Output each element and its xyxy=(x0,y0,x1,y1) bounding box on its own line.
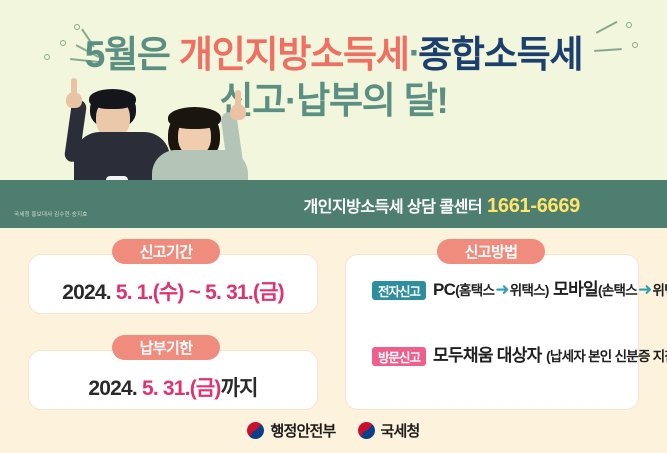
pc-channel-close: 위택스) xyxy=(510,283,549,298)
filing-period-range: 5. 1.(수) ~ 5. 31.(금) xyxy=(116,281,284,304)
filing-period-year: 2024. xyxy=(62,281,111,304)
headline-global-income-tax: 종합소득세 xyxy=(418,34,582,75)
pc-channel-open: (홈택스 xyxy=(455,283,494,298)
logo-nts: 국세청 xyxy=(358,420,420,441)
taegeuk-icon xyxy=(247,422,264,439)
payment-deadline-pill: 납부기한 xyxy=(112,335,220,360)
pc-label: PC xyxy=(433,280,455,299)
visit-filing-texts: 모두채움 대상자 (납세자 본인 신분증 지참) xyxy=(433,345,667,368)
mobile-channel-close: 위택스) xyxy=(653,283,667,298)
tax-announcement-poster: 5월은 개인지방소득세·종합소득세 신고·납부의 달! xyxy=(0,0,667,453)
callcenter-text: 개인지방소득세 상담 콜센터1661-6669 xyxy=(304,193,580,218)
payment-deadline-date: 5. 31.(금) xyxy=(142,377,221,400)
headline-separator-dot: · xyxy=(409,32,418,73)
arrow-right-icon: ➜ xyxy=(494,280,510,299)
logo-moi-label: 행정안전부 xyxy=(270,420,335,441)
electronic-filing-texts: PC(홈택스➜위택스) 모바일(손택스➜위택스) xyxy=(433,279,667,302)
filing-method-card xyxy=(345,254,639,410)
callcenter-label: 개인지방소득세 상담 콜센터 xyxy=(304,199,483,216)
filing-method-pill: 신고방법 xyxy=(437,239,545,264)
mobile-label: 모바일 xyxy=(553,280,598,299)
hero-section: 5월은 개인지방소득세·종합소득세 신고·납부의 달! xyxy=(0,0,667,230)
logo-moi: 행정안전부 xyxy=(247,420,335,441)
callcenter-number[interactable]: 1661-6669 xyxy=(487,195,580,217)
filing-period-pill: 신고기간 xyxy=(112,239,220,264)
visit-filing-tag: 방문신고 xyxy=(372,347,426,366)
filing-period-value: 2024. 5. 1.(수) ~ 5. 31.(금) xyxy=(28,276,318,306)
electronic-filing-tag: 전자신고 xyxy=(372,281,426,300)
photo-credit: 국세청 홍보대사 김수현·송지효 xyxy=(14,210,87,218)
visit-filing-note: (납세자 본인 신분증 지참) xyxy=(546,349,667,364)
logo-nts-label: 국세청 xyxy=(381,420,420,441)
payment-deadline-value: 2024. 5. 31.(금)까지 xyxy=(28,372,318,402)
payment-deadline-suffix: 까지 xyxy=(221,377,258,400)
arrow-right-icon-2: ➜ xyxy=(637,280,653,299)
taegeuk-icon-2 xyxy=(358,422,375,439)
mobile-channel-open: (손택스 xyxy=(598,283,637,298)
footer-logos: 행정안전부 국세청 xyxy=(0,420,667,441)
visit-filing-row: 방문신고 모두채움 대상자 (납세자 본인 신분증 지참) xyxy=(372,345,667,368)
electronic-filing-line-pc: PC(홈택스➜위택스) xyxy=(433,280,549,299)
visit-filing-target: 모두채움 대상자 xyxy=(433,346,542,365)
electronic-filing-line-mobile: 모바일(손택스➜위택스) xyxy=(553,280,667,299)
payment-deadline-year: 2024. xyxy=(88,377,137,400)
electronic-filing-row: 전자신고 PC(홈택스➜위택스) 모바일(손택스➜위택스) xyxy=(372,279,667,302)
